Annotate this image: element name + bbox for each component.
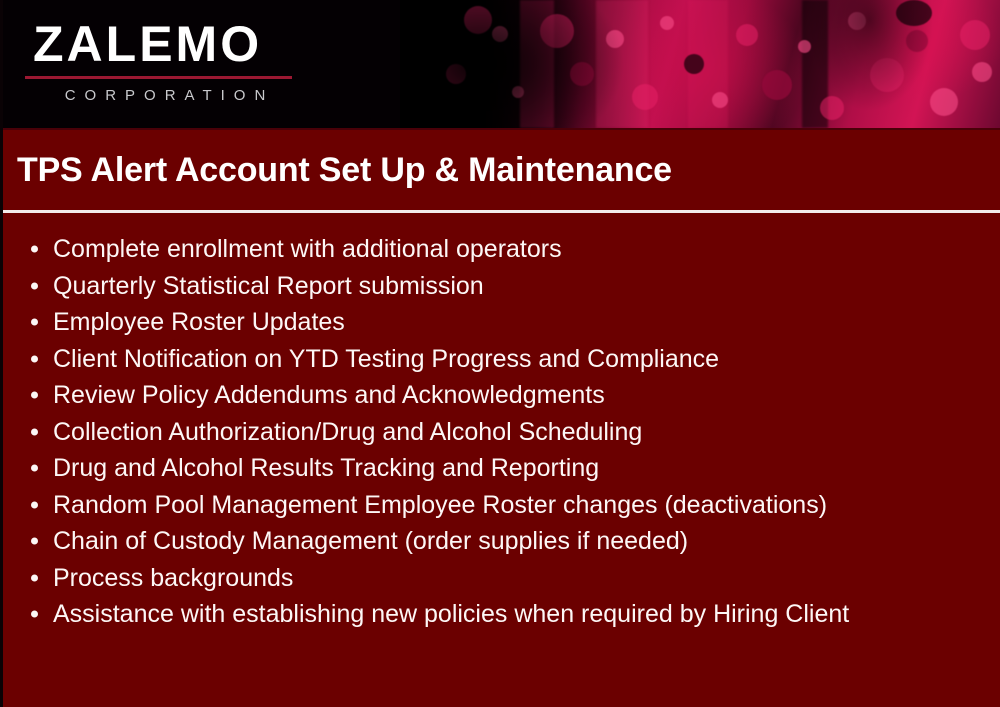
list-item-label: Review Policy Addendums and Acknowledgme… — [53, 381, 605, 409]
presentation-slide: ZALEMO CORPORATION TPS Alert Account Set… — [0, 0, 1000, 707]
list-item: Client Notification on YTD Testing Progr… — [3, 341, 1000, 378]
list-item: Collection Authorization/Drug and Alcoho… — [3, 414, 1000, 451]
list-item: Quarterly Statistical Report submission — [3, 268, 1000, 305]
slide-content: Complete enrollment with additional oper… — [3, 213, 1000, 704]
logo-subtitle: CORPORATION — [33, 85, 300, 107]
logo-underline-rule — [25, 76, 292, 79]
bullet-icon — [31, 428, 38, 435]
company-logo: ZALEMO CORPORATION — [25, 16, 300, 107]
bullet-icon — [31, 355, 38, 362]
list-item: Chain of Custody Management (order suppl… — [3, 523, 1000, 560]
list-item-label: Random Pool Management Employee Roster c… — [53, 491, 827, 519]
slide-title: TPS Alert Account Set Up & Maintenance — [17, 151, 672, 190]
list-item-label: Assistance with establishing new policie… — [53, 600, 849, 628]
bullet-icon — [31, 319, 38, 326]
bullet-icon — [31, 538, 38, 545]
list-item: Random Pool Management Employee Roster c… — [3, 487, 1000, 524]
list-item: Complete enrollment with additional oper… — [3, 231, 1000, 268]
list-item-label: Client Notification on YTD Testing Progr… — [53, 345, 719, 373]
list-item-label: Employee Roster Updates — [53, 308, 345, 336]
list-item-label: Complete enrollment with additional oper… — [53, 235, 562, 263]
bullet-icon — [31, 611, 38, 618]
header-banner-image — [400, 0, 1000, 128]
list-item-label: Quarterly Statistical Report submission — [53, 272, 484, 300]
bullet-icon — [31, 501, 38, 508]
list-item: Process backgrounds — [3, 560, 1000, 597]
list-item: Employee Roster Updates — [3, 304, 1000, 341]
bullet-list: Complete enrollment with additional oper… — [3, 231, 1000, 633]
logo-wordmark: ZALEMO — [33, 16, 300, 72]
list-item-label: Chain of Custody Management (order suppl… — [53, 527, 688, 555]
bullet-icon — [31, 574, 38, 581]
list-item-label: Collection Authorization/Drug and Alcoho… — [53, 418, 642, 446]
list-item: Drug and Alcohol Results Tracking and Re… — [3, 450, 1000, 487]
slide-title-bar: TPS Alert Account Set Up & Maintenance — [3, 128, 1000, 210]
list-item: Review Policy Addendums and Acknowledgme… — [3, 377, 1000, 414]
slide-header: ZALEMO CORPORATION — [3, 0, 1000, 128]
bullet-icon — [31, 282, 38, 289]
bullet-icon — [31, 392, 38, 399]
bullet-icon — [31, 246, 38, 253]
list-item: Assistance with establishing new policie… — [3, 596, 1000, 633]
list-item-label: Process backgrounds — [53, 564, 293, 592]
bullet-icon — [31, 465, 38, 472]
list-item-label: Drug and Alcohol Results Tracking and Re… — [53, 454, 599, 482]
